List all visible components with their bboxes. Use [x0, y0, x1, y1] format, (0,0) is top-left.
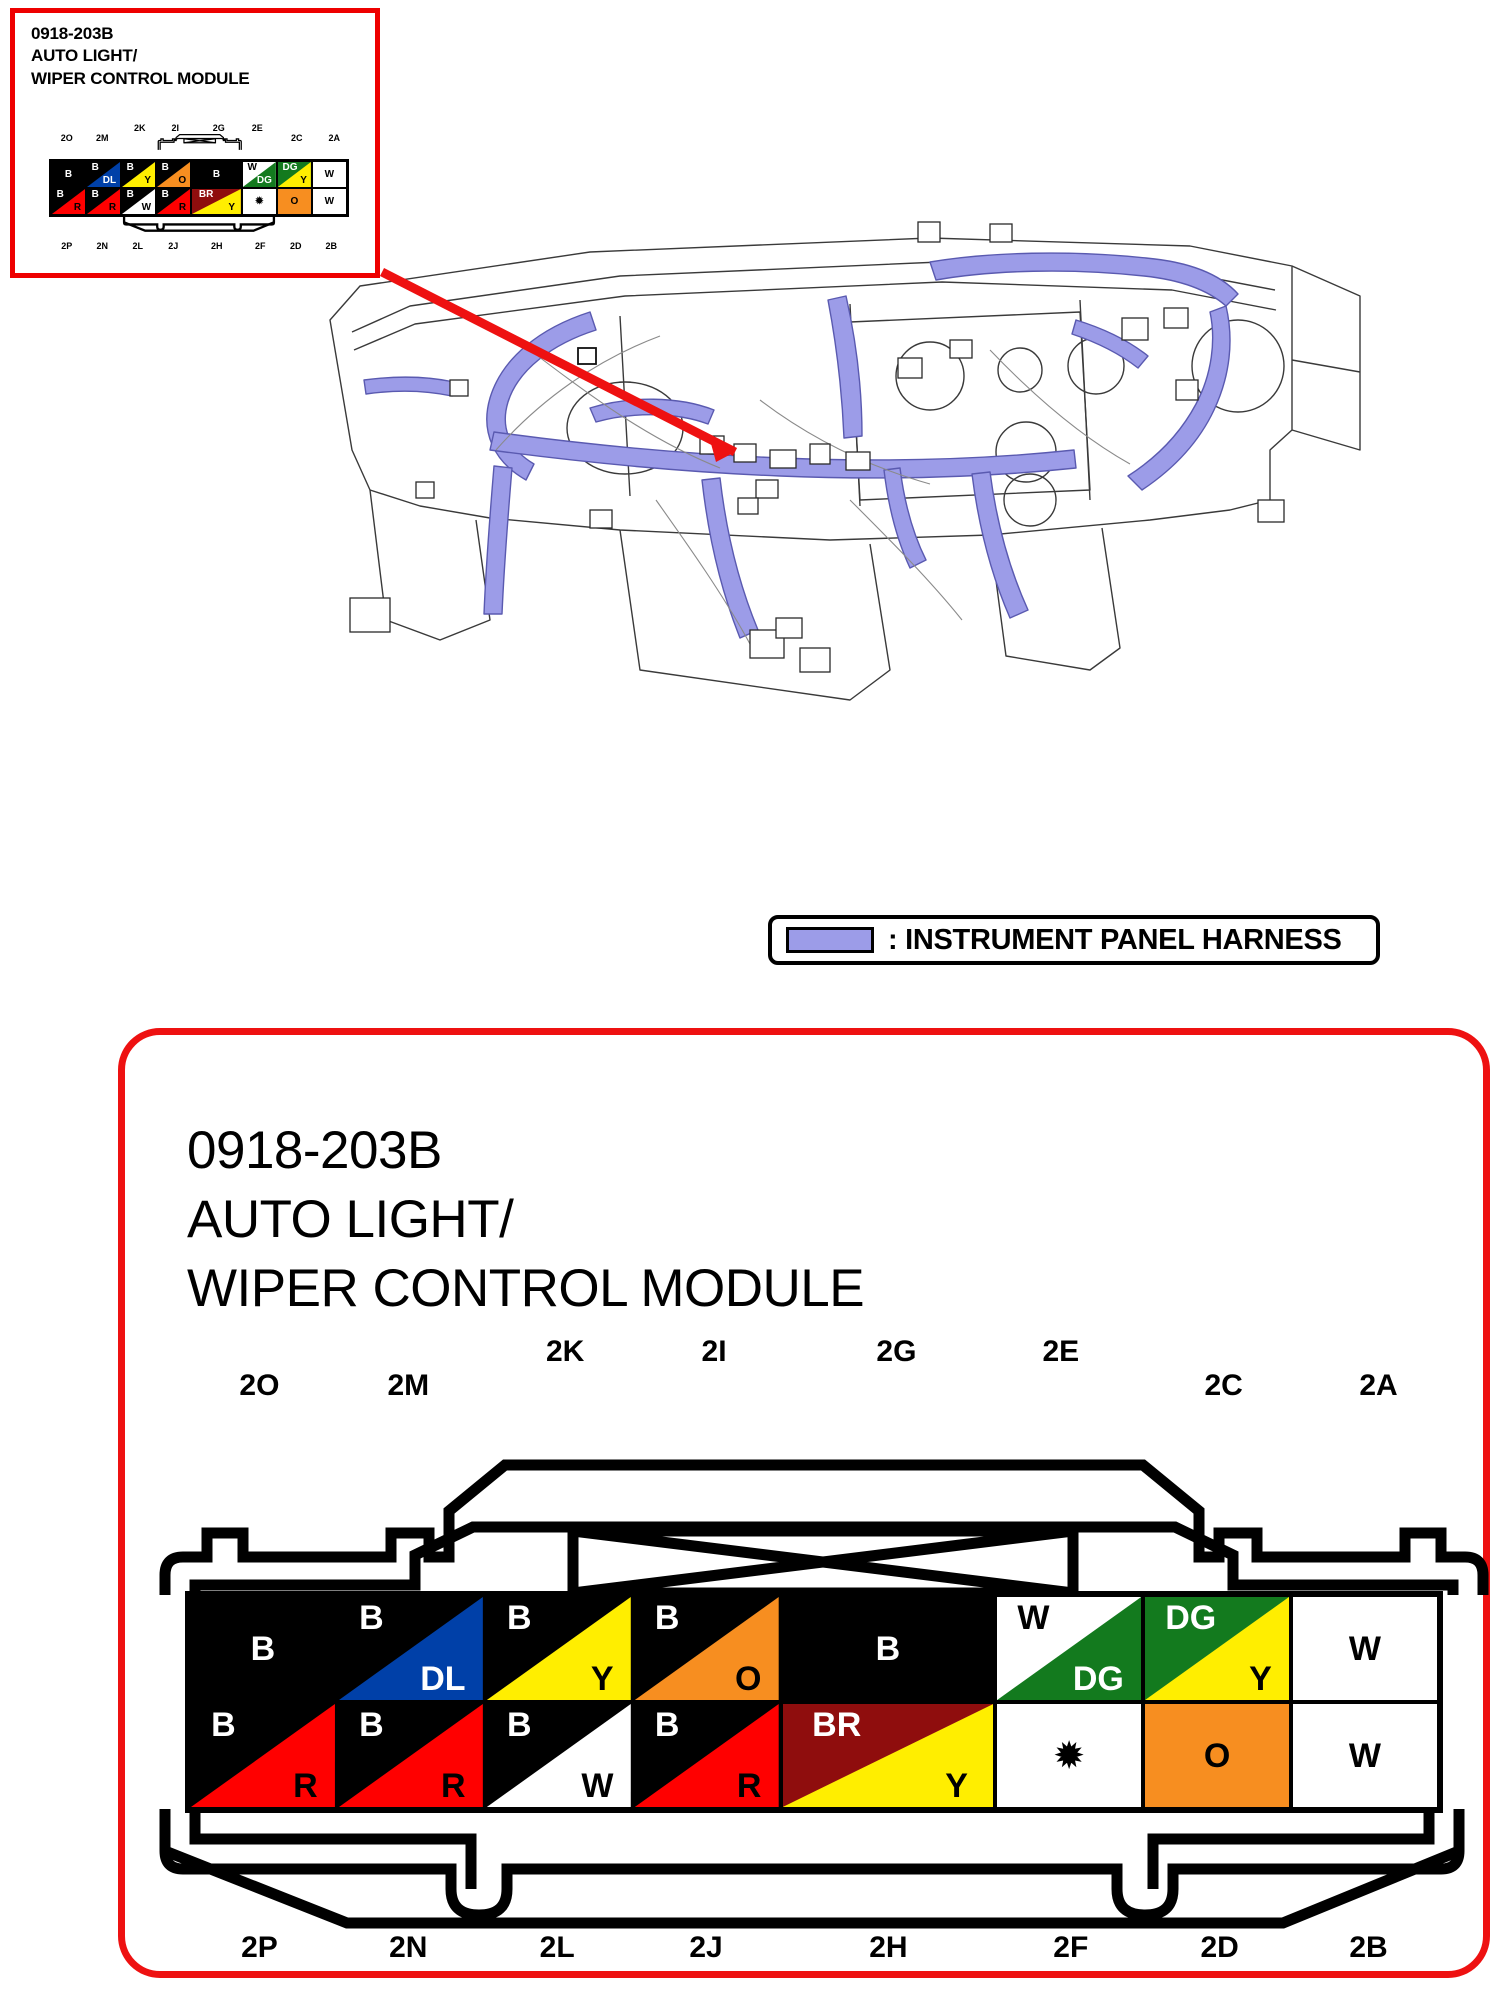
pin-cell-2D: O [1143, 1702, 1291, 1809]
bottom-pin-label-2P: 2P [223, 1931, 295, 1965]
pin-column-2A: WW [312, 161, 347, 215]
pin-wire-color-secondary-2N: R [109, 203, 116, 213]
connector-detail-panel: 0918-203B AUTO LIGHT/ WIPER CONTROL MODU… [118, 1028, 1490, 1978]
pin-cell-2B: W [312, 188, 347, 215]
pin-column-2O: BBR [189, 1595, 337, 1809]
inset-top-pin-label-2E: 2E [245, 123, 269, 133]
inset-top-pin-label-2K: 2K [128, 123, 152, 133]
inset-bottom-pin-label-2H: 2H [205, 241, 229, 251]
pin-wire-color-primary-2M: B [359, 1601, 384, 1635]
inset-bottom-pin-label-2P: 2P [55, 241, 79, 251]
pin-wire-color-primary-2C: DG [1165, 1601, 1216, 1635]
pin-label-2B: W [313, 197, 346, 207]
pin-wire-color-secondary-2E: DG [257, 176, 272, 186]
pin-label-2D: O [278, 197, 311, 207]
bottom-pin-label-2H: 2H [852, 1931, 924, 1965]
bottom-pin-label-2J: 2J [670, 1931, 742, 1965]
top-pin-label-2G: 2G [860, 1335, 932, 1369]
pin-cell-2C: DGY [1143, 1595, 1291, 1702]
pin-wire-color-primary-2N: B [359, 1708, 384, 1742]
pin-label-2D: O [1145, 1739, 1289, 1773]
pin-wire-color-secondary-2N: R [441, 1769, 466, 1803]
inset-pin-grid: BBRBDLBRBYBWBOBRBBRYWDG✹DGYOWW [49, 159, 349, 217]
top-pin-label-2I: 2I [678, 1335, 750, 1369]
top-pin-label-2K: 2K [529, 1335, 601, 1369]
pin-wire-color-primary-2G: B [192, 170, 241, 180]
pin-cell-2P: BR [189, 1702, 337, 1809]
pin-wire-color-primary-2G: B [783, 1632, 993, 1666]
bottom-pin-label-2B: 2B [1333, 1931, 1405, 1965]
pin-label-2F: ✹ [243, 197, 276, 207]
pin-wire-color-primary-2O: B [191, 1632, 335, 1666]
pin-cell-2A: W [312, 161, 347, 188]
pin-cell-2P: BR [51, 188, 86, 215]
inset-bottom-pin-label-2F: 2F [248, 241, 272, 251]
pin-cell-2G: B [781, 1595, 995, 1702]
pin-column-2I: BOBR [156, 161, 191, 215]
inset-top-pin-label-2O: 2O [55, 133, 79, 143]
pin-wire-color-primary-2J: B [655, 1708, 680, 1742]
pin-wire-color-primary-2A: W [313, 170, 346, 180]
pin-wire-color-secondary-2I: O [735, 1662, 761, 1696]
pin-column-2O: BBR [51, 161, 86, 215]
pin-cell-2F: ✹ [242, 188, 277, 215]
inset-top-pin-label-2G: 2G [207, 123, 231, 133]
pin-cell-2H: BRY [191, 188, 242, 215]
inset-top-pin-label-2C: 2C [285, 133, 309, 143]
pin-column-2G: BBRY [781, 1595, 995, 1809]
pin-label-2B: W [1293, 1739, 1437, 1773]
inset-connector-drawing: BBRBDLBRBYBWBOBRBBRYWDG✹DGYOWW2O2M2K2I2G… [33, 123, 365, 271]
pin-wire-color-secondary-2P: R [74, 203, 81, 213]
pin-wire-color-primary-2I: B [162, 163, 169, 173]
pin-column-2A: WW [1291, 1595, 1439, 1809]
pin-column-2E: WDG✹ [995, 1595, 1143, 1809]
pin-cell-2L: BW [121, 188, 156, 215]
pin-cell-2K: BY [485, 1595, 633, 1702]
inset-connector-shell-bottom [41, 217, 357, 239]
pin-wire-color-secondary-2M: DL [420, 1662, 465, 1696]
pin-wire-color-secondary-2E: DG [1073, 1662, 1124, 1696]
pin-column-2K: BYBW [121, 161, 156, 215]
pin-grid: BBRBDLBRBYBWBOBRBBRYWDG✹DGYOWW [185, 1591, 1443, 1813]
pin-cell-2J: BR [633, 1702, 781, 1809]
pin-wire-color-primary-2H: BR [812, 1708, 861, 1742]
pin-cell-2C: DGY [277, 161, 312, 188]
connector-diagram: 2O2M2K2I2G2E2C2A BBRBDLBRBYBWBOBRBBRYWDG… [133, 1335, 1491, 1975]
legend-box: : INSTRUMENT PANEL HARNESS [768, 915, 1380, 965]
inset-bottom-pin-label-2J: 2J [161, 241, 185, 251]
top-pin-label-2O: 2O [223, 1369, 295, 1403]
inset-bottom-pin-label-2D: 2D [284, 241, 308, 251]
bottom-pin-label-2D: 2D [1184, 1931, 1256, 1965]
bottom-pin-label-2F: 2F [1035, 1931, 1107, 1965]
pin-cell-2K: BY [121, 161, 156, 188]
pin-wire-color-primary-2C: DG [282, 163, 297, 173]
pin-column-2G: BBRY [191, 161, 242, 215]
pin-column-2C: DGYO [277, 161, 312, 215]
top-pin-label-2M: 2M [372, 1369, 444, 1403]
pin-cell-2E: WDG [242, 161, 277, 188]
pin-cell-2M: BDL [337, 1595, 485, 1702]
pin-column-2I: BOBR [633, 1595, 781, 1809]
pin-wire-color-secondary-2H: Y [945, 1769, 968, 1803]
pin-wire-color-primary-2K: B [127, 163, 134, 173]
pin-wire-color-primary-2L: B [507, 1708, 532, 1742]
inset-bottom-pin-label-2L: 2L [126, 241, 150, 251]
top-pin-label-2C: 2C [1188, 1369, 1260, 1403]
pin-wire-color-secondary-2M: DL [103, 176, 116, 186]
pin-wire-color-primary-2K: B [507, 1601, 532, 1635]
pin-wire-color-secondary-2P: R [293, 1769, 318, 1803]
pin-column-2M: BDLBR [86, 161, 121, 215]
inset-top-pin-label-2I: 2I [163, 123, 187, 133]
page-title: 0918-203B AUTO LIGHT/ WIPER CONTROL MODU… [187, 1117, 864, 1324]
pin-cell-2D: O [277, 188, 312, 215]
pin-wire-color-secondary-2J: R [179, 203, 186, 213]
pin-wire-color-secondary-2L: W [581, 1769, 613, 1803]
pin-wire-color-secondary-2K: Y [144, 176, 151, 186]
pin-column-2M: BDLBR [337, 1595, 485, 1809]
pin-cell-2N: BR [337, 1702, 485, 1809]
inset-title: 0918-203B AUTO LIGHT/ WIPER CONTROL MODU… [31, 23, 250, 90]
pin-wire-color-primary-2O: B [52, 170, 85, 180]
connector-shell-bottom [133, 1805, 1491, 1995]
pin-wire-color-primary-2L: B [127, 190, 134, 200]
pin-cell-2O: B [51, 161, 86, 188]
pin-cell-2L: BW [485, 1702, 633, 1809]
pin-cell-2B: W [1291, 1702, 1439, 1809]
pin-cell-2I: BO [156, 161, 191, 188]
inset-bottom-pin-label-2B: 2B [319, 241, 343, 251]
inset-connector-box: 0918-203B AUTO LIGHT/ WIPER CONTROL MODU… [10, 8, 380, 278]
pin-cell-2F: ✹ [995, 1702, 1143, 1809]
bottom-pin-label-2L: 2L [521, 1931, 593, 1965]
pin-column-2C: DGYO [1143, 1595, 1291, 1809]
pin-cell-2M: BDL [86, 161, 121, 188]
pin-wire-color-secondary-2C: Y [1249, 1662, 1272, 1696]
pin-cell-2N: BR [86, 188, 121, 215]
pin-wire-color-primary-2N: B [92, 190, 99, 200]
pin-cell-2A: W [1291, 1595, 1439, 1702]
pin-cell-2I: BO [633, 1595, 781, 1702]
pin-cell-2O: B [189, 1595, 337, 1702]
pin-cell-2H: BRY [781, 1702, 995, 1809]
top-pin-label-2E: 2E [1025, 1335, 1097, 1369]
top-pin-label-2A: 2A [1343, 1369, 1415, 1403]
pin-wire-color-secondary-2K: Y [591, 1662, 614, 1696]
pin-wire-color-secondary-2L: W [142, 203, 151, 213]
pin-wire-color-primary-2A: W [1293, 1632, 1437, 1666]
pin-wire-color-secondary-2H: Y [228, 203, 235, 213]
pin-cell-2E: WDG [995, 1595, 1143, 1702]
instrument-panel-illustration [290, 200, 1400, 740]
pin-wire-color-primary-2P: B [57, 190, 64, 200]
pin-column-2K: BYBW [485, 1595, 633, 1809]
pin-wire-color-secondary-2C: Y [300, 176, 307, 186]
pin-cell-2J: BR [156, 188, 191, 215]
pin-wire-color-primary-2E: W [247, 163, 256, 173]
pin-wire-color-secondary-2J: R [737, 1769, 762, 1803]
pin-wire-color-primary-2H: BR [199, 190, 213, 200]
pin-column-2E: WDG✹ [242, 161, 277, 215]
pin-wire-color-primary-2M: B [92, 163, 99, 173]
inset-bottom-pin-label-2N: 2N [90, 241, 114, 251]
inset-top-pin-label-2M: 2M [90, 133, 114, 143]
bottom-pin-label-2N: 2N [372, 1931, 444, 1965]
pin-label-2F: ✹ [997, 1739, 1141, 1773]
pin-wire-color-primary-2I: B [655, 1601, 680, 1635]
legend-label: : INSTRUMENT PANEL HARNESS [888, 924, 1342, 957]
pin-wire-color-primary-2J: B [162, 190, 169, 200]
pin-wire-color-secondary-2I: O [178, 176, 186, 186]
pin-wire-color-primary-2P: B [211, 1708, 236, 1742]
pin-cell-2G: B [191, 161, 242, 188]
pin-wire-color-primary-2E: W [1017, 1601, 1049, 1635]
inset-top-pin-label-2A: 2A [322, 133, 346, 143]
harness-color-swatch [786, 927, 874, 953]
